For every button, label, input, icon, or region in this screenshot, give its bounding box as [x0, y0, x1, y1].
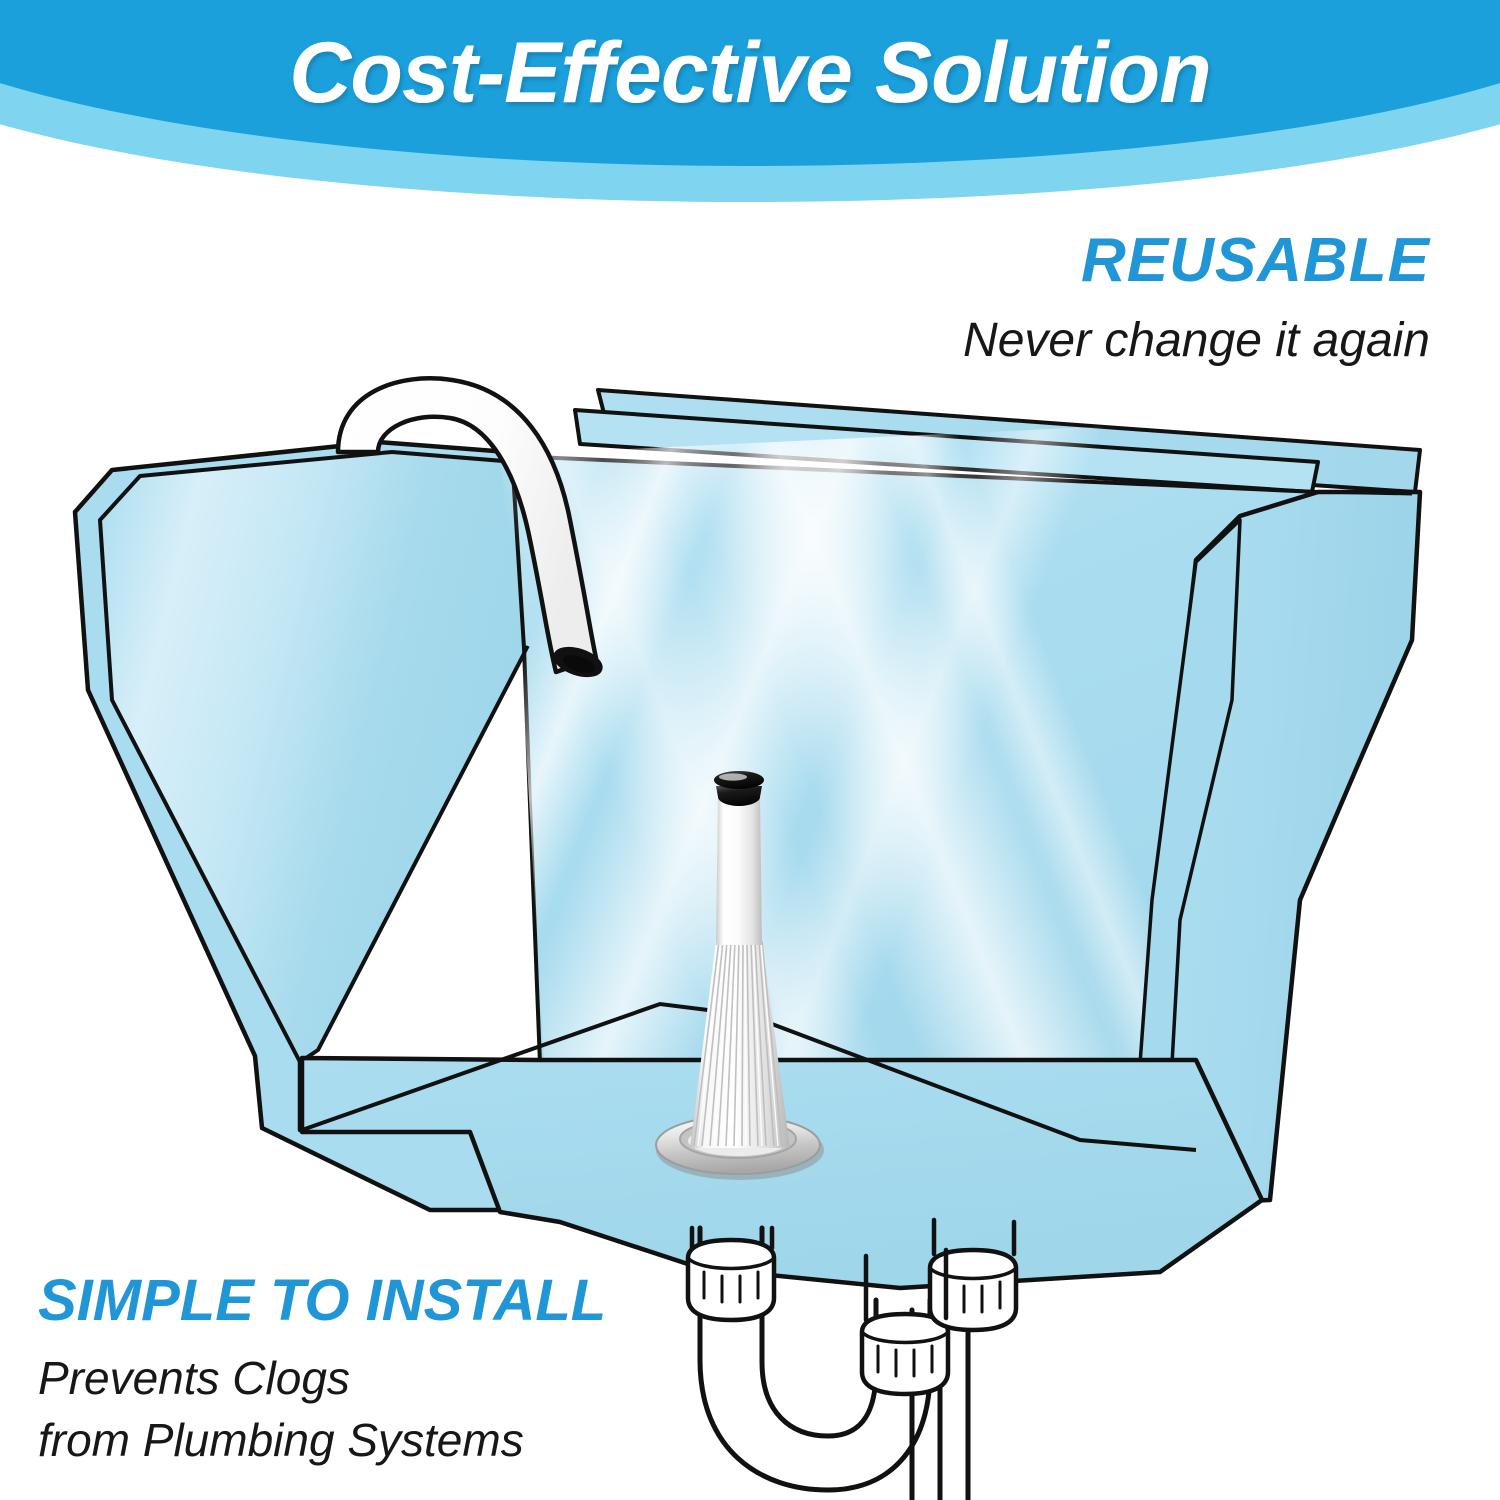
sink-floor-fold-left [302, 1004, 748, 1130]
pipe-collar-top [688, 1240, 774, 1320]
drain-flange-outer [656, 1116, 820, 1174]
p-trap-pipe [700, 1228, 930, 1490]
header-banner: Cost-Effective Solution [0, 0, 1500, 240]
feature-install-heading: SIMPLE TO INSTALL [38, 1272, 606, 1330]
sink-left-wall [100, 452, 528, 1062]
drain-flange-bore [688, 1126, 788, 1156]
faucet [338, 378, 605, 681]
faucet-opening-inner [561, 652, 598, 677]
sink-right-inner-panel [1140, 520, 1240, 1064]
feature-reusable-heading: REUSABLE [963, 230, 1430, 292]
sink-right-rim-notch [1318, 492, 1412, 494]
filter-ribs [694, 941, 782, 1146]
sink-left-crease [318, 646, 528, 1050]
back-wall-reflections [295, 331, 1297, 1338]
sink-basin [75, 331, 1420, 1338]
feature-install-subtext-line-2: from Plumbing Systems [38, 1412, 606, 1468]
drain-flange-inner [680, 1120, 796, 1158]
drain-stub [692, 1228, 772, 1248]
plumbing [688, 1220, 1016, 1500]
sink-right-wall [1135, 492, 1420, 1205]
sink-left-outer-rim [75, 442, 520, 1210]
feature-reusable: REUSABLE Never change it again [963, 230, 1430, 371]
filter-cap [714, 771, 764, 806]
sink-floor-fold-right [748, 1015, 1196, 1150]
branch-stub-a [866, 1250, 946, 1320]
filter-tube [716, 795, 762, 945]
drain-flange [656, 1116, 824, 1180]
feature-simple-to-install: SIMPLE TO INSTALL Prevents Clogs from Pl… [38, 1272, 606, 1468]
sink-back-ledge-inner [575, 410, 1318, 492]
pipe-collar-right [930, 1250, 1016, 1330]
faucet-spout [338, 378, 596, 672]
feature-reusable-subtext: Never change it again [963, 312, 1430, 371]
branch-stub-b [934, 1220, 1014, 1254]
pipe-collar-middle [862, 1314, 948, 1394]
sink-back-wall [512, 456, 1318, 1064]
filter-cap-highlight [719, 773, 747, 780]
sink-floor [302, 1058, 1262, 1288]
filter-rib-highlights [698, 941, 778, 1146]
sink-floor-fold-front [560, 1222, 700, 1268]
filter-cone-body [690, 940, 790, 1148]
infographic-canvas: Cost-Effective Solution [0, 0, 1500, 1500]
feature-install-subtext-line-1: Prevents Clogs [38, 1350, 606, 1406]
drain-filter [690, 771, 790, 1148]
sink-back-ledge-outer [598, 390, 1420, 492]
faucet-opening [551, 643, 604, 681]
p-trap-pipe-back [762, 1228, 876, 1436]
filter-tube-top [718, 789, 760, 802]
